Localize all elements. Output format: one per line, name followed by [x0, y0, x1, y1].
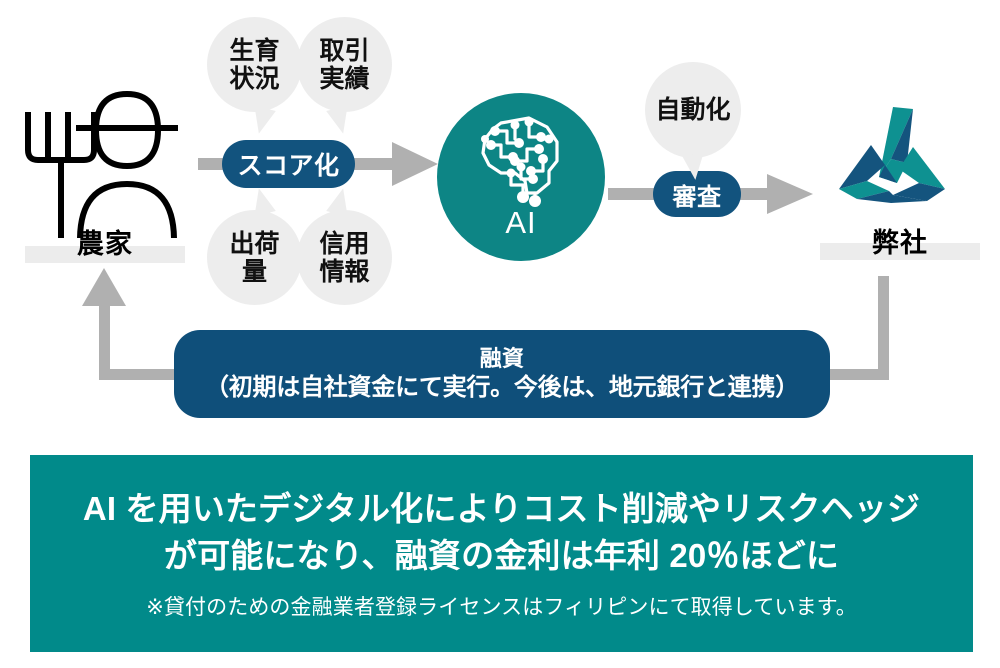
bubble-automation: 自動化 — [645, 62, 741, 158]
company-triangle-logo — [827, 103, 957, 213]
bubble-line-2: 情報 — [319, 258, 369, 286]
bubble-tail-icon — [248, 186, 276, 217]
bubble-line-1: 出荷 — [229, 230, 279, 258]
input-bubble-shipment: 出荷 量 — [207, 210, 302, 305]
ai-label: AI — [505, 205, 536, 241]
ai-brain-circuit-icon — [471, 109, 571, 209]
bubble-tail-icon — [326, 186, 354, 217]
input-bubble-credit: 信用 情報 — [297, 210, 392, 305]
pill-scoring[interactable]: スコア化 — [222, 140, 355, 188]
company-label: 弊社 — [820, 221, 980, 260]
bubble-tail-icon — [682, 153, 707, 181]
bubble-line-1: 自動化 — [655, 96, 730, 124]
bubble-line-2: 量 — [229, 258, 279, 286]
bubble-line-2: 実績 — [319, 65, 369, 93]
bubble-line-1: 取引 — [319, 37, 369, 65]
diagram-canvas: 農家 生育 状況 取引 実績 出荷 量 信用 情報 — [0, 0, 1000, 668]
banner-headline-line-1: AI を用いたデジタル化によりコスト削減やリスクヘッジ — [83, 486, 920, 533]
summary-banner: AI を用いたデジタル化によりコスト削減やリスクヘッジ が可能になり、融資の金利… — [30, 455, 973, 652]
farmer-icon — [18, 88, 188, 238]
arrow-loan-to-farmer — [81, 266, 127, 312]
bubble-line-1: 信用 — [319, 230, 369, 258]
loan-box-detail: （初期は自社資金にて実行。今後は、地元銀行と連携） — [205, 373, 799, 402]
banner-note: ※貸付のための金融業者登録ライセンスはフィリピンにて取得しています。 — [146, 594, 857, 621]
bubble-tail-icon — [326, 106, 354, 137]
bubble-tail-icon — [248, 106, 276, 137]
ai-node[interactable]: AI — [437, 93, 605, 261]
farmer-label: 農家 — [25, 222, 185, 261]
bubble-line-2: 状況 — [229, 65, 279, 93]
input-bubble-growth: 生育 状況 — [207, 17, 302, 112]
loop-right-vertical-bar — [878, 276, 889, 380]
loop-right-horizontal-bar — [820, 369, 889, 380]
input-bubble-transactions: 取引 実績 — [297, 17, 392, 112]
loan-box[interactable]: 融資 （初期は自社資金にて実行。今後は、地元銀行と連携） — [174, 330, 830, 418]
bubble-line-1: 生育 — [229, 37, 279, 65]
banner-headline-line-2: が可能になり、融資の金利は年利 20％ほどに — [164, 533, 839, 580]
loan-box-title: 融資 — [480, 346, 524, 373]
